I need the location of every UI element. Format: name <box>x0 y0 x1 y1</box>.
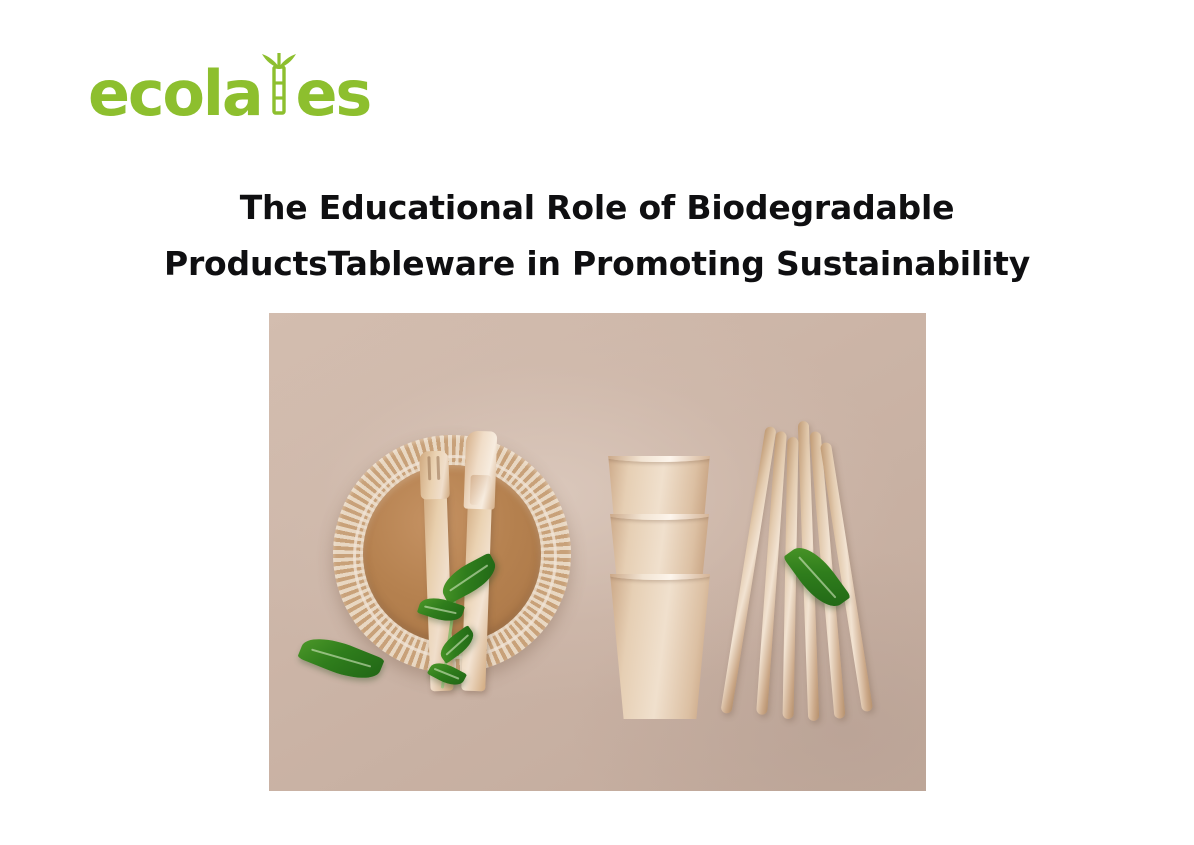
hero-image <box>269 313 926 791</box>
paper-cup-middle <box>607 514 712 576</box>
paper-cup-bottom <box>608 574 712 719</box>
page-title: The Educational Role of Biodegradable Pr… <box>97 180 1097 292</box>
wooden-fork-tines <box>419 451 450 500</box>
brand-logo-text-part-1: ecola <box>88 63 262 125</box>
page-title-line-1: The Educational Role of Biodegradable <box>97 180 1097 236</box>
brand-logo-text-part-2: es <box>296 63 371 125</box>
paper-cup-top <box>605 456 713 516</box>
wooden-knife-blade <box>464 431 498 510</box>
bamboo-stalk-icon <box>262 53 296 115</box>
page-title-line-2: ProductsTableware in Promoting Sustainab… <box>97 236 1097 292</box>
brand-logo-text: ecola es <box>88 53 370 125</box>
brand-logo[interactable]: ecola es <box>88 58 370 120</box>
